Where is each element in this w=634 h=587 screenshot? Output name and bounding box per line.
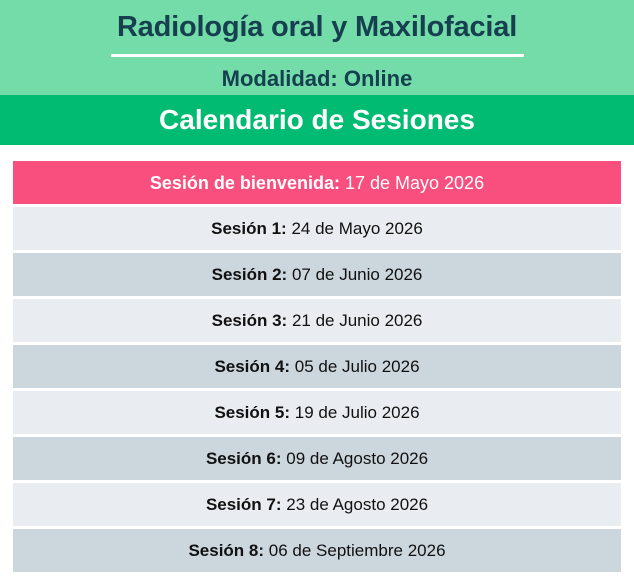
session-date: 23 de Agosto 2026	[286, 495, 428, 514]
modality-label: Modalidad: Online	[222, 65, 413, 93]
session-row[interactable]: Sesión 2: 07 de Junio 2026	[13, 253, 621, 296]
session-row[interactable]: Sesión 8: 06 de Septiembre 2026	[13, 529, 621, 572]
session-row[interactable]: Sesión 7: 23 de Agosto 2026	[13, 483, 621, 526]
session-label: Sesión 5:	[214, 403, 290, 422]
session-text: Sesión de bienvenida: 17 de Mayo 2026	[150, 172, 484, 194]
session-text: Sesión 1: 24 de Mayo 2026	[211, 218, 423, 240]
session-text: Sesión 5: 19 de Julio 2026	[214, 402, 419, 424]
session-text: Sesión 2: 07 de Junio 2026	[212, 264, 423, 286]
session-label: Sesión de bienvenida:	[150, 173, 340, 193]
session-text: Sesión 7: 23 de Agosto 2026	[206, 494, 428, 516]
session-text: Sesión 6: 09 de Agosto 2026	[206, 448, 428, 470]
session-date: 07 de Junio 2026	[292, 265, 422, 284]
session-text: Sesión 3: 21 de Junio 2026	[212, 310, 423, 332]
session-label: Sesión 4:	[214, 357, 290, 376]
session-row[interactable]: Sesión 1: 24 de Mayo 2026	[13, 207, 621, 250]
session-row[interactable]: Sesión 4: 05 de Julio 2026	[13, 345, 621, 388]
session-date: 09 de Agosto 2026	[286, 449, 428, 468]
calendar-banner-title: Calendario de Sesiones	[159, 103, 475, 137]
calendar-banner: Calendario de Sesiones	[0, 95, 634, 145]
session-calendar-card: Radiología oral y Maxilofacial Modalidad…	[0, 0, 634, 587]
session-date: 21 de Junio 2026	[292, 311, 422, 330]
session-text: Sesión 4: 05 de Julio 2026	[214, 356, 419, 378]
session-date: 17 de Mayo 2026	[345, 173, 484, 193]
session-row[interactable]: Sesión 6: 09 de Agosto 2026	[13, 437, 621, 480]
session-label: Sesión 2:	[212, 265, 288, 284]
session-date: 19 de Julio 2026	[295, 403, 420, 422]
session-date: 06 de Septiembre 2026	[269, 541, 446, 560]
page-title: Radiología oral y Maxilofacial	[117, 9, 517, 45]
session-label: Sesión 1:	[211, 219, 287, 238]
session-date: 05 de Julio 2026	[295, 357, 420, 376]
session-label: Sesión 6:	[206, 449, 282, 468]
session-row[interactable]: Sesión 5: 19 de Julio 2026	[13, 391, 621, 434]
welcome-session-row[interactable]: Sesión de bienvenida: 17 de Mayo 2026	[13, 161, 621, 204]
session-label: Sesión 8:	[188, 541, 264, 560]
course-header: Radiología oral y Maxilofacial Modalidad…	[0, 0, 634, 95]
header-divider	[111, 54, 524, 57]
session-text: Sesión 8: 06 de Septiembre 2026	[188, 540, 445, 562]
session-label: Sesión 7:	[206, 495, 282, 514]
session-row[interactable]: Sesión 3: 21 de Junio 2026	[13, 299, 621, 342]
session-date: 24 de Mayo 2026	[291, 219, 422, 238]
session-label: Sesión 3:	[212, 311, 288, 330]
sessions-list: Sesión de bienvenida: 17 de Mayo 2026Ses…	[0, 145, 634, 587]
